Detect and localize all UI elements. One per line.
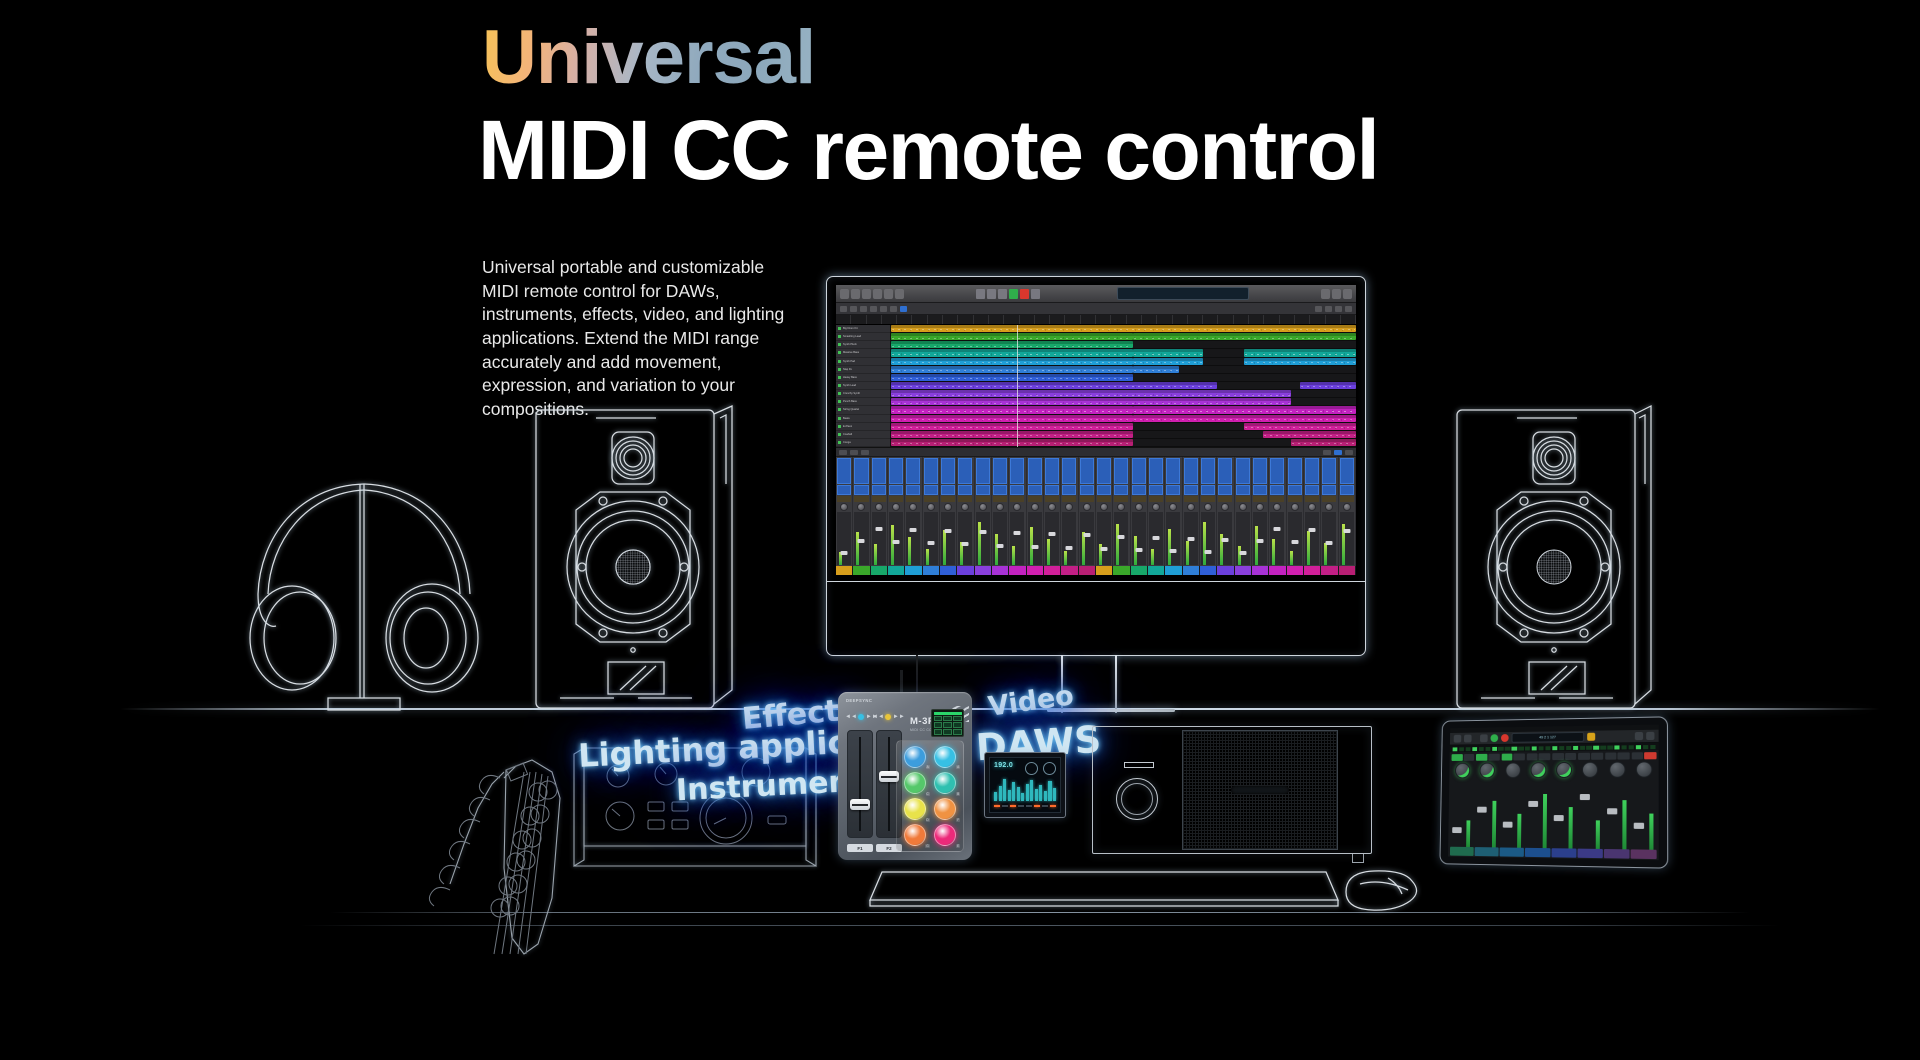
tablet-strip-buttons[interactable] — [1476, 754, 1499, 761]
daw-channel-strip[interactable] — [1252, 457, 1269, 566]
daw-transport-controls[interactable] — [976, 289, 1040, 299]
tablet-strip-buttons[interactable] — [1631, 752, 1656, 759]
daw-channel-name-tab — [1200, 566, 1217, 575]
midi-pad-light[interactable] — [904, 824, 926, 846]
daw-region[interactable] — [1244, 423, 1356, 430]
daw-track-name: Slap Fix — [843, 368, 852, 371]
daw-channel-fader[interactable] — [889, 512, 903, 565]
daw-region[interactable] — [891, 415, 1133, 422]
tablet-pan-knob[interactable] — [1480, 763, 1495, 779]
tablet-channel-name — [1475, 847, 1499, 856]
iface-knob-1[interactable] — [1025, 762, 1038, 775]
tablet-key[interactable] — [1532, 746, 1537, 750]
daw-channel-fader[interactable] — [1253, 512, 1267, 565]
keyboard-and-mouse — [848, 856, 1438, 926]
daw-track-lane[interactable] — [891, 349, 1356, 357]
iface-meter-bar — [1012, 782, 1015, 801]
daw-channel-strip[interactable] — [1148, 457, 1165, 566]
daw-channel-fader[interactable] — [1305, 512, 1319, 565]
iface-meter-bar — [1026, 784, 1029, 801]
daw-region[interactable] — [1244, 349, 1356, 356]
iface-meter-bar — [1035, 789, 1038, 801]
daw-region[interactable] — [891, 423, 1133, 430]
daw-channel-fader[interactable] — [1045, 512, 1059, 565]
daw-channel-strip[interactable] — [1339, 457, 1356, 566]
daw-channel-strip[interactable] — [1079, 457, 1096, 566]
tablet-channel-name — [1551, 848, 1576, 858]
daw-region[interactable] — [1133, 366, 1180, 373]
fader-slot-1[interactable] — [847, 730, 873, 838]
daw-track-lane[interactable] — [891, 423, 1356, 431]
tablet-fader[interactable] — [1526, 780, 1550, 848]
daw-channel-strip[interactable] — [940, 457, 957, 566]
tablet-fader[interactable] — [1631, 780, 1656, 850]
tablet-key[interactable] — [1472, 747, 1477, 751]
tablet-fader[interactable] — [1578, 780, 1603, 849]
tablet-key[interactable] — [1479, 747, 1484, 751]
daw-track-header[interactable]: Smashing Lead — [836, 333, 890, 341]
tablet-channel-name — [1450, 847, 1474, 856]
daw-track-name: E-Piano — [843, 425, 852, 428]
daw-channel-strip[interactable] — [1165, 457, 1182, 566]
daw-channel-strip[interactable] — [836, 457, 853, 566]
daw-channel-strip[interactable] — [853, 457, 870, 566]
daw-channel-name-tab — [1183, 566, 1200, 575]
page-title: MIDI CC remote control — [478, 108, 1378, 192]
tablet-fader[interactable] — [1604, 780, 1629, 850]
daw-channel-strip[interactable] — [905, 457, 922, 566]
daw-channel-fader[interactable] — [1062, 512, 1076, 565]
tablet-pan-knob[interactable] — [1505, 762, 1521, 778]
daw-channel-fader[interactable] — [1010, 512, 1024, 565]
daw-track-lane[interactable] — [891, 382, 1356, 390]
rack-unit — [1092, 726, 1372, 854]
tablet-channel-name — [1630, 849, 1656, 859]
daw-channel-fader[interactable] — [1236, 512, 1250, 565]
tablet-strip-buttons[interactable] — [1527, 753, 1551, 760]
midi-pad[interactable]: A — [931, 744, 961, 769]
daw-channel-fader[interactable] — [854, 512, 868, 565]
midi-pad-light[interactable] — [904, 798, 926, 820]
daw-region[interactable] — [1291, 439, 1356, 446]
daw-channel-name-tab — [905, 566, 922, 575]
daw-channel-name-tab — [992, 566, 1009, 575]
tablet-key[interactable] — [1643, 745, 1649, 749]
eyebrow-heading: Universal — [482, 20, 815, 96]
daw-track-lane[interactable] — [891, 390, 1356, 398]
tablet-key[interactable] — [1600, 745, 1605, 749]
tablet-key[interactable] — [1459, 747, 1464, 751]
tablet-pan-knob[interactable] — [1556, 762, 1572, 778]
daw-channel-name-tab — [1165, 566, 1182, 575]
iface-status-leds — [994, 805, 1056, 809]
daw-mixer-strips[interactable] — [836, 457, 1356, 566]
tablet-strip-buttons[interactable] — [1605, 752, 1630, 759]
tablet-fader[interactable] — [1450, 780, 1474, 847]
midi-cc-controller[interactable]: DEEPSYNC M-3RIO MIDI CC CONTROLLER ◄◄►► … — [838, 692, 972, 860]
midi-pad-light[interactable] — [904, 746, 926, 768]
daw-channel-name-tab — [1044, 566, 1061, 575]
tablet-key[interactable] — [1587, 745, 1592, 749]
headphones-on-stand — [236, 476, 496, 716]
computer-keyboard — [870, 872, 1338, 906]
tablet-key[interactable] — [1636, 745, 1641, 749]
tablet-channel-name — [1577, 849, 1603, 859]
midi-pad-number: E — [956, 844, 960, 848]
tablet-channel-strip[interactable] — [1450, 754, 1474, 847]
daw-track-lane[interactable] — [891, 439, 1356, 447]
daw-channel-fader[interactable] — [1322, 512, 1336, 565]
tablet-key[interactable] — [1622, 745, 1627, 749]
daw-track-header[interactable]: Crunchy Synth — [836, 390, 890, 398]
daw-track-name: Beats — [843, 417, 850, 420]
daw-channel-name-tab — [1321, 566, 1338, 575]
midi-pad[interactable]: E — [931, 823, 961, 848]
daw-region[interactable] — [1133, 333, 1356, 340]
daw-channel-name-tab — [1339, 566, 1356, 575]
daw-track-headers[interactable]: Big Drum KitSmashing LeadSynth PluckMass… — [836, 325, 891, 447]
daw-track-name: Heavy Bass — [843, 376, 857, 379]
daw-mixer-channel-names — [836, 566, 1356, 575]
daw-track-name: Punch Bass — [843, 400, 857, 403]
tablet-mixer-strips[interactable] — [1448, 750, 1659, 850]
midi-led-row-2[interactable]: ◄◄►► — [872, 714, 905, 720]
daw-channel-fader[interactable] — [1132, 512, 1146, 565]
tablet-pan-knob[interactable] — [1455, 763, 1470, 779]
daw-channel-fader[interactable] — [1184, 512, 1198, 565]
label-video: Video — [986, 680, 1075, 723]
daw-track-lane[interactable] — [891, 333, 1356, 341]
midi-pad[interactable]: G — [900, 823, 930, 848]
daw-region[interactable] — [891, 333, 1133, 340]
daw-regions-area[interactable] — [891, 325, 1356, 447]
daw-channel-name-tab — [1131, 566, 1148, 575]
daw-channel-strip[interactable] — [1113, 457, 1130, 566]
daw-channel-name-tab — [923, 566, 940, 575]
midi-pad-number: G — [925, 844, 929, 848]
tablet-channel-strip[interactable] — [1631, 752, 1656, 850]
tablet-key[interactable] — [1650, 744, 1656, 748]
daw-channel-fader[interactable] — [1028, 512, 1042, 565]
tablet-key[interactable] — [1539, 746, 1544, 750]
daw-lcd-display — [1117, 287, 1249, 300]
midi-pad[interactable]: F — [931, 797, 961, 822]
daw-track-header[interactable]: Synth Lead — [836, 382, 890, 390]
audio-interface[interactable]: 192.0 — [984, 752, 1066, 818]
tablet-fader[interactable] — [1475, 780, 1499, 847]
daw-region[interactable] — [891, 398, 1291, 405]
daw-track-header[interactable]: Conga — [836, 439, 890, 447]
daw-track-lane[interactable] — [891, 341, 1356, 349]
daw-channel-fader[interactable] — [958, 512, 972, 565]
tablet-pan-knob[interactable] — [1582, 762, 1598, 778]
tablet-key[interactable] — [1607, 745, 1612, 749]
daw-channel-strip[interactable] — [1321, 457, 1338, 566]
tablet-key[interactable] — [1525, 746, 1530, 750]
tablet-strip-buttons[interactable] — [1578, 753, 1602, 760]
daw-channel-strip[interactable] — [1044, 457, 1061, 566]
daw-channel-strip[interactable] — [1304, 457, 1321, 566]
daw-channel-strip[interactable] — [992, 457, 1009, 566]
studio-monitor-right — [1443, 404, 1655, 716]
daw-track-lane[interactable] — [891, 325, 1356, 333]
iface-knob-2[interactable] — [1043, 762, 1056, 775]
midi-pad-light[interactable] — [904, 772, 926, 794]
daw-channel-strip[interactable] — [957, 457, 974, 566]
daw-channel-fader[interactable] — [976, 512, 990, 565]
daw-track-header[interactable]: Punch Bass — [836, 398, 890, 406]
daw-track-header[interactable]: String Quartet — [836, 406, 890, 414]
daw-channel-fader[interactable] — [1097, 512, 1111, 565]
tablet-channel-strip[interactable] — [1526, 753, 1551, 848]
daw-region[interactable] — [891, 366, 1133, 373]
midi-pad-light[interactable] — [934, 772, 956, 794]
daw-track-header[interactable]: Beats — [836, 415, 890, 423]
daw-region[interactable] — [1244, 358, 1356, 365]
daw-track-header[interactable]: Synth Pad — [836, 358, 890, 366]
daw-region[interactable] — [891, 439, 1133, 446]
daw-channel-strip[interactable] — [1217, 457, 1234, 566]
studio-monitor-left — [534, 404, 746, 716]
daw-channel-strip[interactable] — [1200, 457, 1217, 566]
daw-channel-name-tab — [836, 566, 853, 575]
daw-region[interactable] — [891, 341, 1133, 348]
iface-meter-bar — [1044, 791, 1047, 801]
tablet-key[interactable] — [1552, 746, 1557, 750]
daw-region[interactable] — [891, 358, 1133, 365]
midi-pad[interactable]: A — [900, 744, 930, 769]
daw-track-header[interactable]: Cowbell — [836, 431, 890, 439]
daw-region[interactable] — [891, 431, 1133, 438]
monitor-screen: Big Drum KitSmashing LeadSynth PluckMass… — [836, 285, 1356, 575]
daw-channel-strip[interactable] — [1287, 457, 1304, 566]
midi-pad-light[interactable] — [934, 824, 956, 846]
daw-track-lane[interactable] — [891, 431, 1356, 439]
tablet-key[interactable] — [1566, 746, 1571, 750]
daw-channel-strip[interactable] — [1269, 457, 1286, 566]
daw-channel-fader[interactable] — [1270, 512, 1284, 565]
daw-region[interactable] — [1133, 415, 1356, 422]
monitor-chin — [826, 581, 1366, 655]
daw-channel-fader[interactable] — [1218, 512, 1232, 565]
daw-channel-fader[interactable] — [1149, 512, 1163, 565]
daw-channel-strip[interactable] — [1131, 457, 1148, 566]
iface-meter-bar — [1008, 790, 1011, 801]
midi-pad-number: C — [926, 792, 930, 796]
tablet-key[interactable] — [1485, 746, 1490, 750]
tablet-pan-knob[interactable] — [1636, 761, 1653, 777]
midi-pad-light[interactable] — [934, 798, 956, 820]
daw-channel-name-tab — [1252, 566, 1269, 575]
daw-channel-strip[interactable] — [871, 457, 888, 566]
monitor-stand-left — [1115, 655, 1117, 713]
daw-track-name: Big Drum Kit — [843, 327, 858, 330]
daw-region[interactable] — [891, 349, 1133, 356]
daw-region[interactable] — [1133, 349, 1203, 356]
daw-channel-name-tab — [853, 566, 870, 575]
tablet-key[interactable] — [1593, 745, 1598, 749]
tablet-key[interactable] — [1453, 747, 1458, 751]
tablet-key[interactable] — [1573, 745, 1578, 749]
daw-channel-name-tab — [871, 566, 888, 575]
hero-scene: Universal MIDI CC remote control Univers… — [0, 0, 1920, 1060]
midi-usb-cable — [900, 670, 903, 692]
iface-meter-bar — [1039, 785, 1042, 801]
tablet-fader[interactable] — [1552, 780, 1577, 849]
daw-track-name: Crunchy Synth — [843, 392, 860, 395]
daw-region[interactable] — [1133, 358, 1203, 365]
tablet-key[interactable] — [1545, 746, 1550, 750]
daw-track-lane[interactable] — [891, 358, 1356, 366]
daw-channel-strip[interactable] — [1061, 457, 1078, 566]
daw-channel-fader[interactable] — [993, 512, 1007, 565]
daw-track-header[interactable]: Synth Pluck — [836, 341, 890, 349]
tablet-frame: 49 2 1 127 — [1439, 716, 1668, 868]
midi-pad-number: D — [926, 818, 930, 822]
daw-track-lane[interactable] — [891, 398, 1356, 406]
daw-channel-name-tab — [1148, 566, 1165, 575]
daw-channel-fader[interactable] — [1201, 512, 1215, 565]
daw-mixer — [836, 447, 1356, 575]
daw-track-name: Synth Pad — [843, 360, 855, 363]
iface-level-meters — [994, 779, 1056, 801]
midi-pad-grid[interactable]: AACBDFGE — [896, 740, 964, 852]
daw-region[interactable] — [1133, 406, 1356, 413]
daw-track-header[interactable]: Slap Fix — [836, 366, 890, 374]
midi-pad-number: F — [956, 818, 960, 822]
daw-playhead[interactable] — [1017, 325, 1018, 447]
daw-channel-strip[interactable] — [1235, 457, 1252, 566]
iface-led — [1002, 805, 1008, 807]
daw-channel-strip[interactable] — [1183, 457, 1200, 566]
midi-pad[interactable]: D — [900, 797, 930, 822]
daw-channel-fader[interactable] — [1340, 512, 1354, 565]
daw-channel-strip[interactable] — [1027, 457, 1044, 566]
daw-track-header[interactable]: Massive Bass — [836, 349, 890, 357]
daw-channel-fader[interactable] — [1288, 512, 1302, 565]
daw-track-header[interactable]: Big Drum Kit — [836, 325, 890, 333]
iface-meter-bar — [1003, 779, 1006, 801]
midi-lcd-screen — [931, 709, 964, 737]
iface-meter-bar — [1017, 787, 1020, 801]
body-paragraph: Universal portable and customizable MIDI… — [482, 256, 800, 421]
daw-channel-fader[interactable] — [941, 512, 955, 565]
tablet-channel-strip[interactable] — [1475, 754, 1499, 848]
tablet-channel-strip[interactable] — [1552, 753, 1577, 849]
computer-monitor: Big Drum KitSmashing LeadSynth PluckMass… — [826, 276, 1366, 656]
iface-led — [994, 805, 1000, 807]
daw-channel-fader[interactable] — [1166, 512, 1180, 565]
tablet-key[interactable] — [1492, 746, 1497, 750]
daw-toolbar — [836, 285, 1356, 303]
fader-label-1: F1 — [847, 844, 873, 852]
daw-menu-bar[interactable] — [836, 303, 1356, 315]
daw-region[interactable] — [1300, 382, 1356, 389]
fader-cap-1[interactable] — [850, 799, 870, 810]
midi-pad[interactable]: C — [900, 770, 930, 795]
daw-track-lane[interactable] — [891, 374, 1356, 382]
iface-led — [1034, 805, 1040, 807]
daw-channel-strip[interactable] — [1096, 457, 1113, 566]
daw-track-lane[interactable] — [891, 406, 1356, 414]
daw-region[interactable] — [891, 374, 1133, 381]
daw-track-name: Synth Pluck — [843, 343, 857, 346]
daw-track-name: Conga — [843, 441, 851, 444]
tablet-key[interactable] — [1505, 746, 1510, 750]
daw-channel-fader[interactable] — [906, 512, 920, 565]
daw-region[interactable] — [891, 325, 1356, 332]
tablet-strip-buttons[interactable] — [1452, 754, 1475, 761]
rack-unit-knob[interactable] — [1116, 778, 1158, 820]
tablet-strip-buttons[interactable] — [1501, 753, 1524, 760]
tablet-channel-strip[interactable] — [1500, 753, 1525, 847]
daw-channel-strip[interactable] — [923, 457, 940, 566]
daw-channel-strip[interactable] — [975, 457, 992, 566]
tablet-key[interactable] — [1498, 746, 1503, 750]
tablet-channel-name — [1525, 848, 1550, 857]
tablet-mixer[interactable]: 49 2 1 127 — [1436, 718, 1666, 866]
tablet-key[interactable] — [1580, 745, 1585, 749]
rack-unit-slot — [1231, 786, 1289, 794]
tablet-key[interactable] — [1518, 746, 1523, 750]
tablet-key[interactable] — [1629, 745, 1634, 749]
tablet-fader[interactable] — [1500, 780, 1524, 848]
daw-region[interactable] — [891, 390, 1291, 397]
midi-pad-number: A — [956, 765, 960, 769]
tablet-channel-strip[interactable] — [1578, 753, 1603, 849]
tablet-key[interactable] — [1559, 746, 1564, 750]
tablet-strip-buttons[interactable] — [1552, 753, 1576, 760]
daw-track-header[interactable]: Heavy Bass — [836, 374, 890, 382]
tablet-channel-strip[interactable] — [1604, 752, 1629, 849]
daw-track-lane[interactable] — [891, 366, 1356, 374]
daw-channel-fader[interactable] — [1080, 512, 1094, 565]
daw-region[interactable] — [891, 382, 1217, 389]
iface-led — [1042, 805, 1048, 807]
daw-track-lane[interactable] — [891, 415, 1356, 423]
daw-timeline-ruler[interactable] — [836, 315, 1356, 325]
tablet-pan-knob[interactable] — [1530, 762, 1546, 778]
daw-mixer-toolbar[interactable] — [836, 448, 1356, 457]
daw-channel-fader[interactable] — [1114, 512, 1128, 565]
midi-brand-label: DEEPSYNC — [846, 698, 872, 703]
audio-interface-display: 192.0 — [989, 757, 1061, 813]
midi-pad[interactable]: B — [931, 770, 961, 795]
daw-channel-fader[interactable] — [872, 512, 886, 565]
daw-region[interactable] — [891, 406, 1133, 413]
iface-led — [1050, 805, 1056, 807]
daw-channel-name-tab — [1061, 566, 1078, 575]
daw-channel-strip[interactable] — [888, 457, 905, 566]
midi-pad-light[interactable] — [934, 746, 956, 768]
tablet-key[interactable] — [1512, 746, 1517, 750]
tablet-key[interactable] — [1615, 745, 1620, 749]
iface-meter-bar — [994, 792, 997, 801]
rack-unit-grille — [1182, 730, 1338, 850]
daw-track-header[interactable]: E-Piano — [836, 423, 890, 431]
daw-channel-fader[interactable] — [837, 512, 851, 565]
daw-channel-name-tab — [1235, 566, 1252, 575]
daw-channel-name-tab — [1217, 566, 1234, 575]
tablet-key[interactable] — [1466, 747, 1471, 751]
daw-channel-strip[interactable] — [1009, 457, 1026, 566]
daw-channel-fader[interactable] — [924, 512, 938, 565]
tablet-screen: 49 2 1 127 — [1448, 725, 1659, 861]
tablet-time-display: 49 2 1 127 — [1512, 732, 1585, 743]
tablet-pan-knob[interactable] — [1609, 762, 1625, 778]
daw-region[interactable] — [1263, 431, 1356, 438]
daw-channel-name-tab — [1096, 566, 1113, 575]
